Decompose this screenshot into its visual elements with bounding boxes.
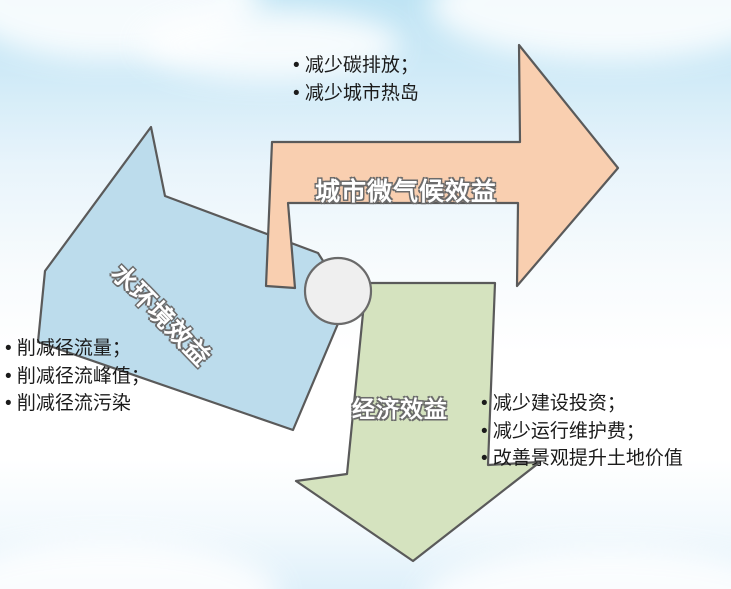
note-line: • 改善景观提升土地价值 (481, 445, 683, 473)
diagram-canvas: 城市微气候效益 水环境效益 经济效益 • 减少碳排放； • 减少城市热岛 • 削… (0, 0, 731, 589)
note-water-environment: • 削减径流量； • 削减径流峰值； • 削减径流污染 (5, 335, 150, 418)
arrow-label-micro-climate: 城市微气候效益 (315, 172, 497, 208)
arrow-label-economic: 经济效益 (352, 390, 448, 424)
note-economic: • 减少建设投资； • 减少运行维护费； • 改善景观提升土地价值 (481, 390, 683, 473)
note-micro-climate: • 减少碳排放； • 减少城市热岛 (293, 52, 419, 107)
note-line: • 削减径流污染 (5, 390, 150, 418)
note-line: • 减少建设投资； (481, 390, 683, 418)
center-circle (305, 258, 371, 324)
note-line: • 减少城市热岛 (293, 80, 419, 108)
note-line: • 削减径流峰值； (5, 363, 150, 391)
note-line: • 减少碳排放； (293, 52, 419, 80)
note-line: • 削减径流量； (5, 335, 150, 363)
note-line: • 减少运行维护费； (481, 418, 683, 446)
